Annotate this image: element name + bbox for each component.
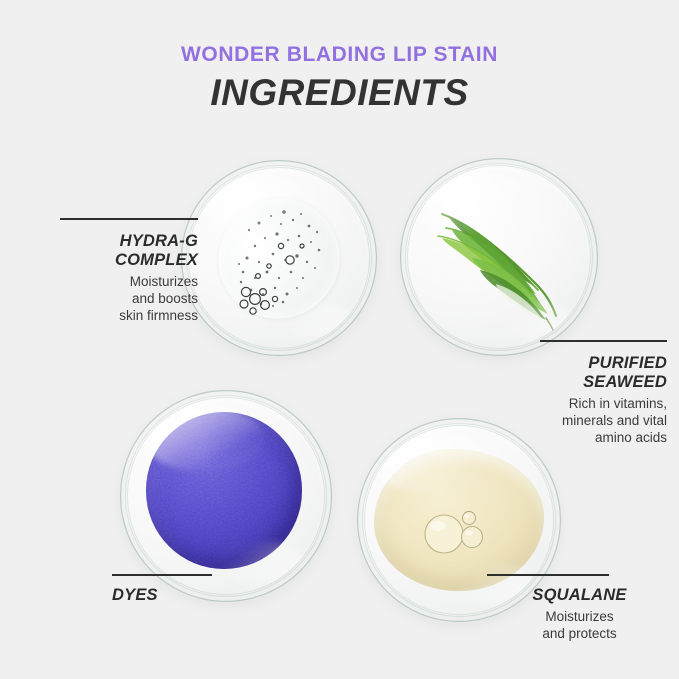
seaweed-strands-icon [408,166,590,348]
dish-contents-hydra-g-complex [189,168,369,348]
callout-desc-line-3: skin firmness [8,307,198,324]
dish-contents-dyes [128,398,324,594]
callout-title-line-1: DYES [112,586,292,605]
callout-desc-line-3: amino acids [487,429,667,446]
callout-hydra-g-complex: HYDRA-G COMPLEX Moisturizes and boosts s… [8,210,198,324]
callout-description: Rich in vitamins, minerals and vital ami… [487,395,667,446]
brand-title: WONDER BLADING LIP STAIN [0,44,679,66]
callout-title-line-1: HYDRA-G [8,232,198,251]
callout-title: HYDRA-G COMPLEX [8,232,198,270]
callout-description: Moisturizes and protects [487,608,672,642]
callout-title-line-2: COMPLEX [8,251,198,270]
callout-title: SQUALANE [487,586,672,605]
callout-leader-line [540,340,667,342]
callout-desc-line-2: and protects [487,625,672,642]
page-title: INGREDIENTS [0,72,679,115]
callout-description: Moisturizes and boosts skin firmness [8,273,198,324]
callout-title: PURIFIED SEAWEED [487,354,667,392]
callout-squalane: SQUALANE Moisturizes and protects [487,566,672,642]
dish-contents-purified-seaweed [408,166,590,348]
callout-dyes: DYES [112,566,292,605]
callout-purified-seaweed: PURIFIED SEAWEED Rich in vitamins, miner… [487,332,667,446]
callout-desc-line-1: Moisturizes [487,608,672,625]
gel-bubbles-icon [189,168,369,348]
callout-desc-line-1: Rich in vitamins, [487,395,667,412]
callout-title-line-1: PURIFIED [487,354,667,373]
blue-dye-powder [146,412,303,569]
callout-title-line-2: SEAWEED [487,373,667,392]
callout-desc-line-2: and boosts [8,290,198,307]
callout-desc-line-1: Moisturizes [8,273,198,290]
petri-dish-hydra-g-complex [181,160,377,356]
callout-leader-line [487,574,609,576]
powder-grain-texture [146,412,303,569]
callout-desc-line-2: minerals and vital [487,412,667,429]
callout-leader-line [60,218,198,220]
petri-dish-purified-seaweed [400,158,598,356]
callout-leader-line [112,574,212,576]
header: WONDER BLADING LIP STAIN INGREDIENTS [0,44,679,115]
ingredients-infographic: WONDER BLADING LIP STAIN INGREDIENTS [0,0,679,679]
callout-title-line-1: SQUALANE [487,586,672,605]
callout-title: DYES [112,586,292,605]
